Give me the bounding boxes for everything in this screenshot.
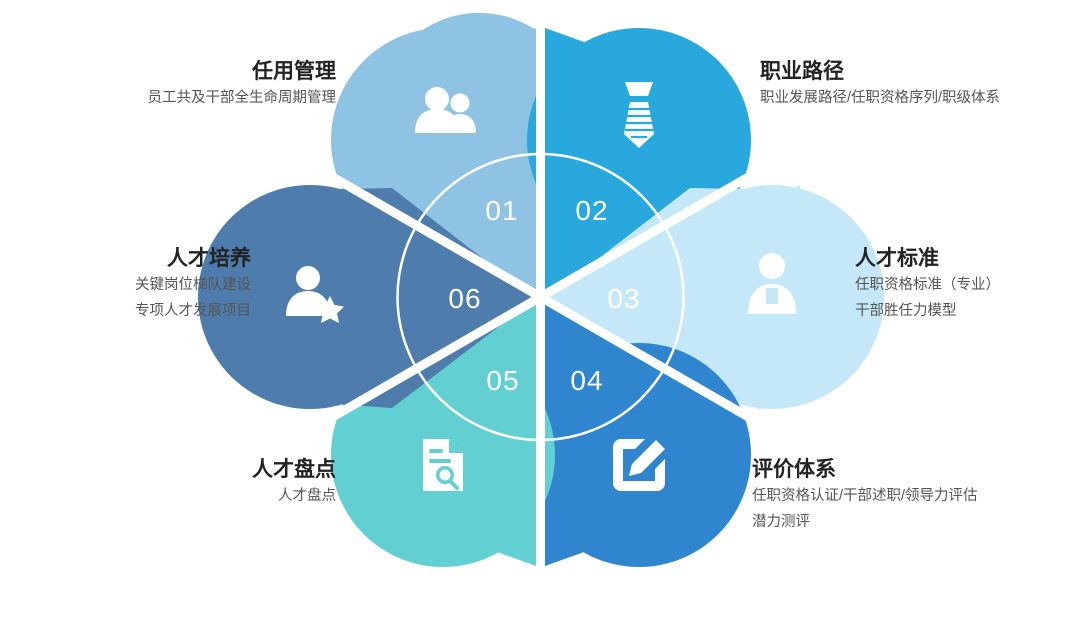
segment-desc-06-line-1: 关键岗位梯队建设 <box>135 273 251 298</box>
segment-title-05: 人才盘点 <box>252 456 336 484</box>
segment-number-05: 05 <box>486 365 519 396</box>
label-block-02: 职业路径 职业发展路径/任职资格序列/职级体系 <box>760 58 1000 112</box>
segment-number-01: 01 <box>485 195 518 226</box>
label-block-04: 评价体系 任职资格认证/干部述职/领导力评估 潜力测评 <box>752 456 978 535</box>
segment-title-06: 人才培养 <box>135 245 251 273</box>
label-block-05: 人才盘点 人才盘点 <box>252 456 336 510</box>
segment-title-02: 职业路径 <box>760 58 1000 86</box>
segment-desc-01-line-1: 员工共及干部全生命周期管理 <box>148 86 337 111</box>
segment-desc-03-line-2: 干部胜任力模型 <box>855 299 1000 324</box>
segment-title-01: 任用管理 <box>148 58 337 86</box>
segment-desc-03-line-1: 任职资格标准（专业） <box>855 273 1000 298</box>
segment-number-06: 06 <box>448 283 481 314</box>
segment-desc-04-line-1: 任职资格认证/干部述职/领导力评估 <box>752 484 978 509</box>
diagram-canvas: 01 02 03 04 05 06 <box>0 0 1081 626</box>
label-block-03: 人才标准 任职资格标准（专业） 干部胜任力模型 <box>855 245 1000 324</box>
segment-desc-06-line-2: 专项人才发展项目 <box>135 299 251 324</box>
label-block-01: 任用管理 员工共及干部全生命周期管理 <box>148 58 337 112</box>
segment-number-02: 02 <box>575 195 608 226</box>
segment-desc-02-line-1: 职业发展路径/任职资格序列/职级体系 <box>760 86 1000 111</box>
segment-number-03: 03 <box>607 283 640 314</box>
segment-title-03: 人才标准 <box>855 245 1000 273</box>
segment-desc-04-line-2: 潜力测评 <box>752 510 978 535</box>
segment-number-04: 04 <box>570 365 603 396</box>
segment-title-04: 评价体系 <box>752 456 978 484</box>
segment-desc-05-line-1: 人才盘点 <box>252 484 336 509</box>
label-block-06: 人才培养 关键岗位梯队建设 专项人才发展项目 <box>135 245 251 324</box>
